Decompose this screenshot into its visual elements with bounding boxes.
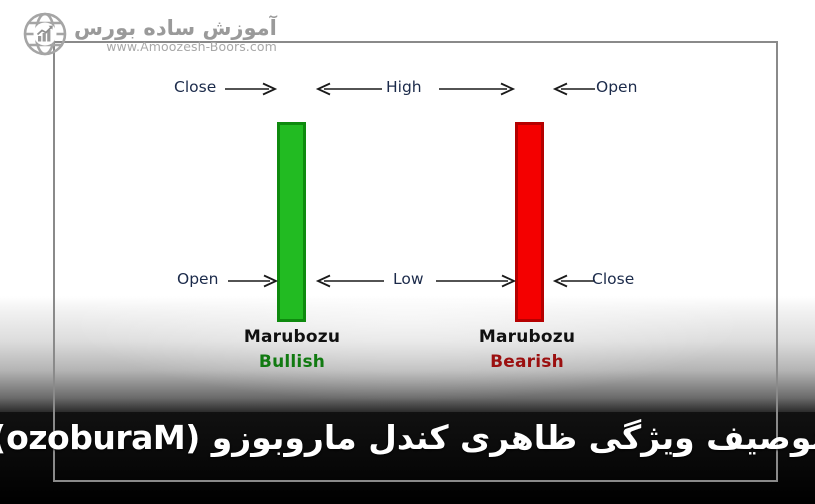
bearish-caption-trend: Bearish	[427, 352, 627, 372]
bullish-caption-trend: Bullish	[192, 352, 392, 372]
bottom-banner: توصیف ویژگی ظاهری کندل ماروبوزو (Maruboz…	[0, 404, 815, 470]
bullish-caption-title: Marubozu	[192, 327, 392, 347]
arrow-low-to-bullish	[312, 275, 384, 287]
bearish-caption: Marubozu Bearish	[427, 327, 627, 372]
brand-name: آموزش ساده بورس	[74, 17, 277, 39]
arrow-open-to-bearish	[549, 83, 595, 95]
arrow-close-to-bullish	[225, 83, 277, 95]
arrow-high-to-bearish	[439, 83, 515, 95]
arrow-open-to-bullish	[228, 275, 278, 287]
slide-canvas: آموزش ساده بورس www.Amoozesh-Boors.com C…	[0, 0, 815, 504]
label-bullish-close: Close	[174, 78, 216, 96]
label-high: High	[386, 78, 422, 96]
banner-title: توصیف ویژگی ظاهری کندل ماروبوزو (Maruboz…	[0, 418, 815, 457]
arrow-low-to-bearish	[436, 275, 516, 287]
bullish-candle-body	[277, 122, 306, 322]
label-bearish-close: Close	[592, 270, 634, 288]
bearish-caption-title: Marubozu	[427, 327, 627, 347]
label-bullish-open: Open	[177, 270, 218, 288]
arrow-high-to-bullish	[312, 83, 382, 95]
bearish-candle-body	[515, 122, 544, 322]
label-low: Low	[393, 270, 424, 288]
arrow-close-to-bearish	[549, 275, 595, 287]
label-bearish-open: Open	[596, 78, 637, 96]
bullish-caption: Marubozu Bullish	[192, 327, 392, 372]
